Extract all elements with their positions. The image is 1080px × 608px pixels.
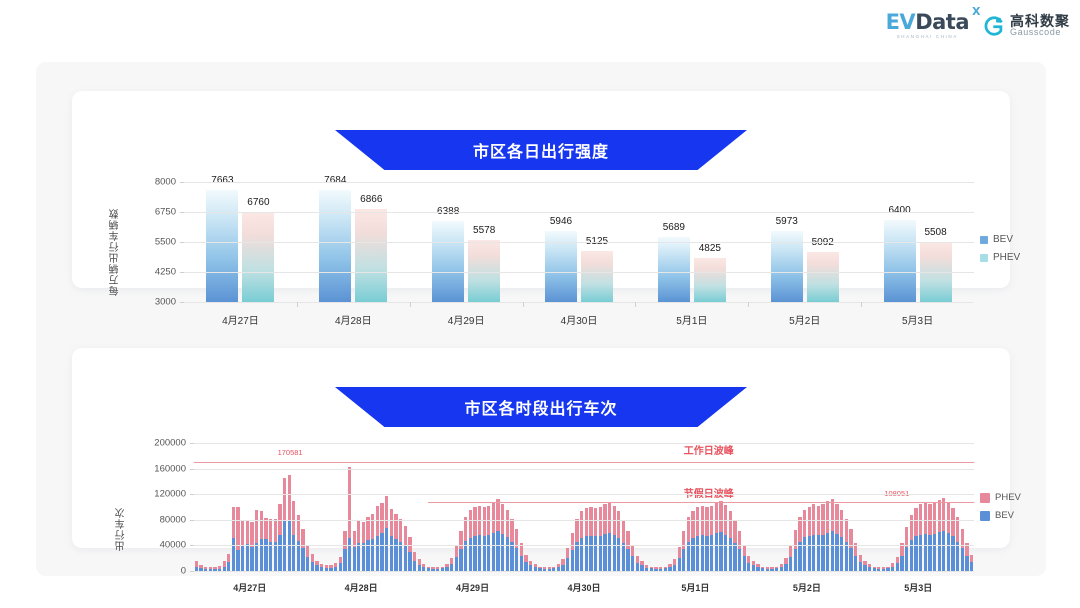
banner-title-1: 市区各日出行强度 — [473, 138, 609, 162]
chart2-bar-segment-phev — [241, 520, 244, 545]
chart1-gridline — [184, 302, 974, 303]
chart2-bar-segment-bev — [339, 563, 342, 571]
chart2-stacked-bar — [315, 561, 318, 571]
chart2-stacked-bar — [534, 564, 537, 571]
chart2-bar-segment-phev — [348, 467, 351, 538]
chart2-bar-segment-bev — [241, 545, 244, 571]
chart2-bar-segment-bev — [589, 536, 592, 571]
gausscode-en-name: Gausscode — [1010, 28, 1070, 37]
evdata-data-text: Data — [915, 10, 969, 34]
chart2-stacked-bar — [292, 501, 295, 571]
chart2-stacked-bar — [232, 507, 235, 571]
evdata-wordmark: EVDataX — [886, 12, 969, 33]
chart2-bar-segment-bev — [362, 543, 365, 571]
chart2-bar-segment-phev — [524, 555, 527, 562]
chart1-legend-item[interactable]: BEV — [980, 234, 1020, 245]
chart1-x-tick-label: 4月30日 — [561, 312, 598, 327]
chart2-stacked-bar — [390, 509, 393, 571]
chart2-stacked-bar — [821, 504, 824, 571]
chart1-legend-item[interactable]: PHEV — [980, 252, 1020, 263]
chart2-stacked-bar — [566, 548, 569, 571]
chart2-bar-segment-bev — [938, 532, 941, 571]
chart2-bar-segment-phev — [232, 507, 235, 538]
chart2-x-tick-label: 4月29日 — [456, 581, 489, 594]
chart2-bar-segment-phev — [385, 496, 388, 528]
chart1-bar-phev — [694, 258, 726, 302]
chart2-y-tick-label: 160000 — [136, 463, 186, 474]
chart2-bar-segment-phev — [808, 507, 811, 536]
chart2-bar-segment-bev — [859, 562, 862, 571]
chart2-bar-segment-bev — [789, 557, 792, 571]
chart1-gridline — [184, 182, 974, 183]
chart-hourly-trip-count: 出行车次 04000080000120000160000200000 4月27日… — [136, 437, 976, 582]
chart2-bar-segment-phev — [951, 508, 954, 536]
chart2-bar-segment-phev — [733, 520, 736, 543]
chart2-stacked-bar — [483, 507, 486, 571]
chart1-y-tick-mark — [180, 302, 184, 303]
chart2-bar-segment-phev — [455, 545, 458, 557]
chart2-stacked-bar — [492, 502, 495, 571]
chart2-stacked-bar — [835, 504, 838, 571]
chart1-bar-value-label: 6866 — [360, 194, 382, 205]
chart1-x-tick-mark — [523, 302, 524, 307]
chart2-bar-segment-bev — [232, 538, 235, 571]
chart2-stacked-bar — [812, 504, 815, 571]
slide-root: EVDataX SHANGHAI CHINA 高科数聚 Gausscode 市区… — [0, 0, 1080, 608]
chart2-bar-segment-phev — [594, 508, 597, 536]
chart1-bar-bev — [206, 190, 238, 302]
chart2-bar-segment-phev — [831, 499, 834, 531]
chart2-stacked-bar — [743, 545, 746, 571]
chart2-stacked-bar — [914, 508, 917, 571]
chart2-x-tick-label: 4月30日 — [567, 581, 600, 594]
chart1-bar-value-label: 5973 — [776, 216, 798, 227]
chart2-stacked-bar — [780, 564, 783, 571]
chart2-stacked-bar — [961, 529, 964, 571]
chart2-bar-segment-bev — [835, 534, 838, 571]
chart2-stacked-bar — [840, 510, 843, 571]
chart2-stacked-bar — [608, 502, 611, 571]
chart2-bar-segment-phev — [236, 507, 239, 550]
chart2-stacked-bar — [631, 545, 634, 571]
chart2-stacked-bar — [900, 543, 903, 571]
chart2-stacked-bar — [789, 545, 792, 571]
chart2-bar-segment-phev — [803, 510, 806, 538]
chart2-bar-segment-bev — [622, 543, 625, 571]
chart2-bar-segment-bev — [385, 528, 388, 571]
chart2-weekday-peak-value: 170581 — [278, 448, 303, 457]
chart2-bar-segment-bev — [371, 539, 374, 571]
chart2-stacked-bar — [236, 507, 239, 571]
chart1-bar-bev — [432, 221, 464, 302]
chart2-bar-segment-bev — [919, 535, 922, 571]
chart1-bar-phev — [242, 212, 274, 302]
chart2-holiday-peak-line — [428, 502, 974, 503]
chart2-bar-segment-phev — [250, 522, 253, 548]
chart2-bar-segment-phev — [947, 503, 950, 534]
chart2-bar-segment-bev — [246, 544, 249, 571]
chart2-bar-segment-phev — [566, 548, 569, 558]
chart1-x-tick-mark — [410, 302, 411, 307]
banner-title-2: 市区各时段出行车次 — [464, 395, 617, 419]
chart2-stacked-bar — [808, 507, 811, 571]
chart2-stacked-bar — [589, 507, 592, 571]
chart2-stacked-bar — [283, 478, 286, 571]
chart2-bar-segment-phev — [589, 507, 592, 536]
chart1-bar-value-label: 4825 — [699, 243, 721, 254]
chart2-stacked-bar — [951, 508, 954, 571]
chart2-stacked-bar — [613, 506, 616, 571]
evdata-subtitle: SHANGHAI CHINA — [897, 35, 958, 40]
chart2-stacked-bar — [756, 564, 759, 571]
chart1-bar-bev — [319, 190, 351, 302]
chart2-stacked-bar — [724, 505, 727, 571]
chart2-stacked-bar — [817, 506, 820, 571]
chart2-bar-segment-bev — [733, 543, 736, 571]
chart2-bar-segment-bev — [603, 534, 606, 571]
chart2-bar-segment-bev — [845, 542, 848, 571]
chart2-stacked-bar — [506, 510, 509, 571]
chart2-stacked-bar — [288, 475, 291, 571]
chart1-y-tick-mark — [180, 272, 184, 273]
chart2-bar-segment-phev — [246, 521, 249, 544]
chart2-stacked-bar — [353, 531, 356, 571]
chart2-legend: PHEVBEV — [980, 492, 1021, 528]
chart2-bar-segment-bev — [250, 547, 253, 571]
chart2-stacked-bar — [938, 500, 941, 571]
chart2-bar-segment-bev — [951, 536, 954, 571]
chart2-stacked-bar — [626, 531, 629, 571]
chart2-bar-segment-bev — [724, 535, 727, 571]
chart2-bar-segment-bev — [585, 536, 588, 571]
chart2-stacked-bar — [366, 517, 369, 571]
chart2-bar-segment-phev — [715, 503, 718, 534]
chart2-bar-segment-bev — [404, 545, 407, 571]
chart2-stacked-bar — [831, 499, 834, 571]
chart2-bar-segment-phev — [288, 475, 291, 520]
chart2-gridline — [194, 545, 974, 546]
chart2-bar-segment-bev — [399, 542, 402, 571]
chart2-bar-segment-phev — [743, 545, 746, 557]
chart2-stacked-bar — [371, 514, 374, 571]
chart2-legend-label: BEV — [995, 510, 1014, 521]
chart2-bar-segment-bev — [691, 538, 694, 571]
chart2-bar-segment-bev — [343, 549, 346, 571]
chart2-bar-segment-bev — [306, 557, 309, 571]
chart2-bar-segment-bev — [747, 563, 750, 571]
chart2-y-tick-mark — [190, 443, 194, 444]
chart2-stacked-bar — [408, 537, 411, 571]
chart1-bar-value-label: 5946 — [550, 216, 572, 227]
chart2-stacked-bar — [343, 531, 346, 571]
chart2-stacked-bar — [719, 501, 722, 571]
chart2-bar-segment-bev — [357, 543, 360, 571]
chart2-stacked-bar — [195, 561, 198, 571]
chart2-stacked-bar — [668, 564, 671, 571]
chart2-bar-segment-phev — [571, 533, 574, 550]
chart1-legend-label: BEV — [993, 234, 1013, 245]
chart2-bar-segment-bev — [599, 536, 602, 571]
chart2-stacked-bar — [854, 543, 857, 571]
gausscode-cn-name: 高科数聚 — [1010, 14, 1070, 29]
chart2-stacked-bar — [459, 531, 462, 571]
chart2-bar-segment-bev — [840, 537, 843, 571]
chart2-stacked-bar — [891, 563, 894, 571]
chart2-bar-segment-phev — [283, 478, 286, 520]
chart2-bar-segment-phev — [371, 514, 374, 539]
chart2-bar-segment-bev — [682, 549, 685, 571]
chart1-bar-value-label: 6400 — [888, 205, 910, 216]
chart2-bar-segment-bev — [469, 538, 472, 571]
chart2-stacked-bar — [705, 507, 708, 571]
chart2-stacked-bar — [603, 504, 606, 571]
chart2-stacked-bar — [311, 554, 314, 571]
chart2-legend-swatch — [980, 511, 990, 521]
chart2-plot-area — [194, 437, 974, 579]
chart2-stacked-bar — [394, 514, 397, 571]
chart2-stacked-bar — [306, 545, 309, 571]
chart1-y-tick-mark — [180, 242, 184, 243]
chart2-bar-segment-bev — [473, 536, 476, 571]
chart1-x-tick-label: 5月1日 — [676, 312, 707, 327]
chart2-bar-segment-bev — [812, 535, 815, 571]
chart2-bar-segment-bev — [965, 556, 968, 571]
chart2-bar-segment-bev — [264, 539, 267, 571]
chart2-stacked-bar — [380, 503, 383, 571]
chart2-stacked-bar — [784, 558, 787, 571]
chart2-bar-segment-bev — [571, 550, 574, 571]
chart2-bar-segment-bev — [933, 534, 936, 571]
chart1-x-tick-mark — [861, 302, 862, 307]
chart2-legend-item[interactable]: PHEV — [980, 492, 1021, 503]
chart2-bar-segment-phev — [297, 515, 300, 541]
chart2-bar-segment-phev — [859, 555, 862, 562]
evdata-ev-text: EV — [886, 10, 916, 34]
chart2-bar-segment-bev — [236, 550, 239, 571]
chart2-bar-segment-phev — [510, 519, 513, 543]
chart1-y-axis-title: 每万辆出行车辆数 — [108, 188, 123, 296]
brand-logo-bar: EVDataX SHANGHAI CHINA 高科数聚 Gausscode — [886, 12, 1070, 40]
chart2-gridline — [194, 571, 974, 572]
chart2-bar-segment-phev — [622, 520, 625, 543]
chart2-bar-segment-bev — [292, 535, 295, 571]
chart2-stacked-bar — [385, 496, 388, 571]
chart2-bar-segment-bev — [376, 536, 379, 571]
banner-daily-travel-intensity: 市区各日出行强度 — [335, 130, 747, 170]
chart2-bar-segment-bev — [380, 533, 383, 571]
gausscode-logo: 高科数聚 Gausscode — [983, 14, 1070, 38]
chart2-bar-segment-bev — [227, 562, 230, 571]
chart1-gridline — [184, 272, 974, 273]
chart2-bar-segment-bev — [710, 535, 713, 571]
chart2-bar-segment-bev — [311, 562, 314, 571]
chart2-stacked-bar — [515, 529, 518, 571]
chart2-stacked-bar — [561, 559, 564, 571]
chart2-stacked-bar — [640, 561, 643, 571]
chart2-bar-segment-bev — [961, 548, 964, 571]
chart2-stacked-bar — [445, 564, 448, 571]
chart2-bar-segment-bev — [701, 535, 704, 571]
chart2-bar-segment-phev — [260, 511, 263, 539]
chart1-y-tick-mark — [180, 182, 184, 183]
chart2-stacked-bar — [701, 506, 704, 571]
chart1-bar-bev — [884, 220, 916, 302]
chart2-stacked-bar — [422, 564, 425, 571]
chart2-bar-segment-bev — [905, 547, 908, 571]
chart2-bar-segment-bev — [631, 556, 634, 571]
chart2-bar-segment-bev — [353, 547, 356, 571]
chart2-bar-segment-bev — [483, 536, 486, 571]
chart2-bar-segment-bev — [738, 549, 741, 571]
chart2-bar-segment-bev — [626, 549, 629, 571]
chart2-legend-label: PHEV — [995, 492, 1021, 503]
chart2-stacked-bar — [501, 504, 504, 571]
chart2-stacked-bar — [297, 515, 300, 571]
chart2-bar-segment-phev — [631, 545, 634, 557]
chart2-stacked-bar — [919, 504, 922, 571]
chart2-bar-segment-phev — [956, 517, 959, 541]
chart2-y-tick-mark — [190, 469, 194, 470]
chart2-bar-segment-bev — [301, 548, 304, 571]
chart2-bar-segment-bev — [896, 563, 899, 571]
chart2-stacked-bar — [376, 506, 379, 571]
chart2-bar-segment-phev — [376, 506, 379, 535]
chart2-y-tick-label: 120000 — [136, 489, 186, 500]
evdata-logo: EVDataX SHANGHAI CHINA — [886, 12, 969, 40]
chart2-bar-segment-phev — [933, 503, 936, 534]
chart2-stacked-bar — [473, 507, 476, 571]
chart2-stacked-bar — [478, 506, 481, 571]
chart2-bar-segment-phev — [580, 511, 583, 538]
chart1-x-tick-label: 4月27日 — [222, 312, 259, 327]
chart2-legend-item[interactable]: BEV — [980, 510, 1021, 521]
chart2-stacked-bar — [947, 503, 950, 571]
chart2-bar-segment-bev — [575, 542, 578, 571]
chart1-bar-bev — [658, 237, 690, 302]
chart2-bar-segment-bev — [459, 549, 462, 571]
chart2-stacked-bar — [520, 543, 523, 571]
chart2-y-tick-label: 200000 — [136, 438, 186, 449]
chart2-bar-segment-phev — [845, 519, 848, 543]
chart2-stacked-bar — [418, 559, 421, 571]
chart1-x-tick-mark — [635, 302, 636, 307]
chart2-bar-segment-phev — [617, 511, 620, 538]
chart2-bar-segment-phev — [696, 507, 699, 536]
chart2-stacked-bar — [956, 517, 959, 571]
chart2-stacked-bar — [970, 555, 973, 571]
chart2-stacked-bar — [682, 531, 685, 571]
chart1-legend: BEVPHEV — [980, 234, 1020, 270]
chart2-bar-segment-phev — [798, 517, 801, 541]
chart2-bar-segment-phev — [905, 527, 908, 547]
chart1-bar-value-label: 7684 — [324, 175, 346, 186]
chart2-x-tick-label: 5月3日 — [904, 581, 932, 594]
chart2-stacked-bar — [227, 554, 230, 571]
chart2-y-tick-label: 40000 — [136, 540, 186, 551]
chart2-x-tick-label: 5月1日 — [681, 581, 709, 594]
chart2-y-axis-title: 出行车次 — [114, 461, 129, 551]
chart2-bar-segment-phev — [306, 545, 309, 557]
chart2-bar-segment-phev — [719, 501, 722, 532]
chart2-stacked-bar — [339, 557, 342, 571]
chart2-bar-segment-phev — [924, 503, 927, 534]
chart2-legend-swatch — [980, 493, 990, 503]
chart2-bar-segment-phev — [608, 502, 611, 533]
chart1-x-tick-label: 4月28日 — [335, 312, 372, 327]
chart2-stacked-bar — [687, 517, 690, 571]
chart2-stacked-bar — [636, 556, 639, 571]
chart2-bar-segment-bev — [928, 535, 931, 571]
chart2-bar-segment-phev — [404, 526, 407, 545]
chart1-bar-phev — [355, 209, 387, 302]
chart2-bar-segment-bev — [594, 536, 597, 571]
chart2-bar-segment-phev — [473, 507, 476, 536]
chart2-stacked-bar — [524, 555, 527, 571]
chart2-bar-segment-bev — [743, 556, 746, 571]
chart2-stacked-bar — [223, 561, 226, 571]
chart2-bar-segment-bev — [580, 538, 583, 571]
chart2-bar-segment-bev — [278, 535, 281, 571]
chart2-bar-segment-phev — [269, 519, 272, 542]
chart2-bar-segment-bev — [408, 552, 411, 571]
chart2-stacked-bar — [863, 561, 866, 571]
chart2-bar-segment-bev — [455, 557, 458, 571]
chart2-bar-segment-bev — [524, 562, 527, 571]
chart2-weekday-peak-line — [194, 462, 974, 463]
chart1-bar-value-label: 5578 — [473, 225, 495, 236]
chart2-gridline — [194, 520, 974, 521]
chart1-y-tick-label: 4250 — [136, 267, 176, 278]
chart2-bar-segment-bev — [478, 535, 481, 571]
chart2-holiday-peak-label: 节假日波峰 — [684, 485, 734, 500]
chart2-bar-segment-phev — [914, 508, 917, 536]
chart2-bar-segment-bev — [914, 536, 917, 571]
chart2-bar-segment-bev — [794, 549, 797, 571]
chart2-bar-segment-phev — [682, 531, 685, 549]
chart2-bar-segment-bev — [826, 533, 829, 571]
chart1-bar-value-label: 5689 — [663, 222, 685, 233]
chart2-bar-segment-phev — [506, 510, 509, 538]
chart2-bar-segment-phev — [938, 500, 941, 532]
chart2-bar-segment-bev — [678, 558, 681, 571]
chart2-bar-segment-phev — [840, 510, 843, 538]
chart2-stacked-bar — [678, 547, 681, 571]
chart2-y-tick-label: 80000 — [136, 514, 186, 525]
chart2-y-tick-mark — [190, 545, 194, 546]
chart2-bar-segment-phev — [789, 545, 792, 557]
chart2-bar-segment-phev — [585, 508, 588, 536]
chart2-bar-segment-bev — [492, 533, 495, 571]
chart2-bar-segment-bev — [348, 538, 351, 571]
chart2-stacked-bar — [924, 503, 927, 571]
chart2-stacked-bar — [278, 504, 281, 571]
chart2-stacked-bar — [594, 508, 597, 571]
chart2-bar-segment-bev — [817, 535, 820, 571]
chart2-bar-segment-bev — [520, 556, 523, 571]
chart1-bar-phev — [807, 252, 839, 302]
chart2-bar-segment-bev — [849, 548, 852, 571]
chart2-stacked-bar — [599, 507, 602, 571]
chart2-x-tick-label: 5月2日 — [793, 581, 821, 594]
chart2-stacked-bar — [928, 504, 931, 571]
chart-daily-travel-intensity: 每万辆出行车辆数 30004250550067508000 7663676076… — [136, 182, 956, 302]
chart1-y-tick-label: 6750 — [136, 207, 176, 218]
chart2-gridline — [194, 443, 974, 444]
chart1-y-tick-label: 3000 — [136, 297, 176, 308]
chart2-bar-segment-bev — [501, 534, 504, 571]
gausscode-text: 高科数聚 Gausscode — [1010, 14, 1070, 38]
chart2-bar-segment-phev — [705, 507, 708, 536]
